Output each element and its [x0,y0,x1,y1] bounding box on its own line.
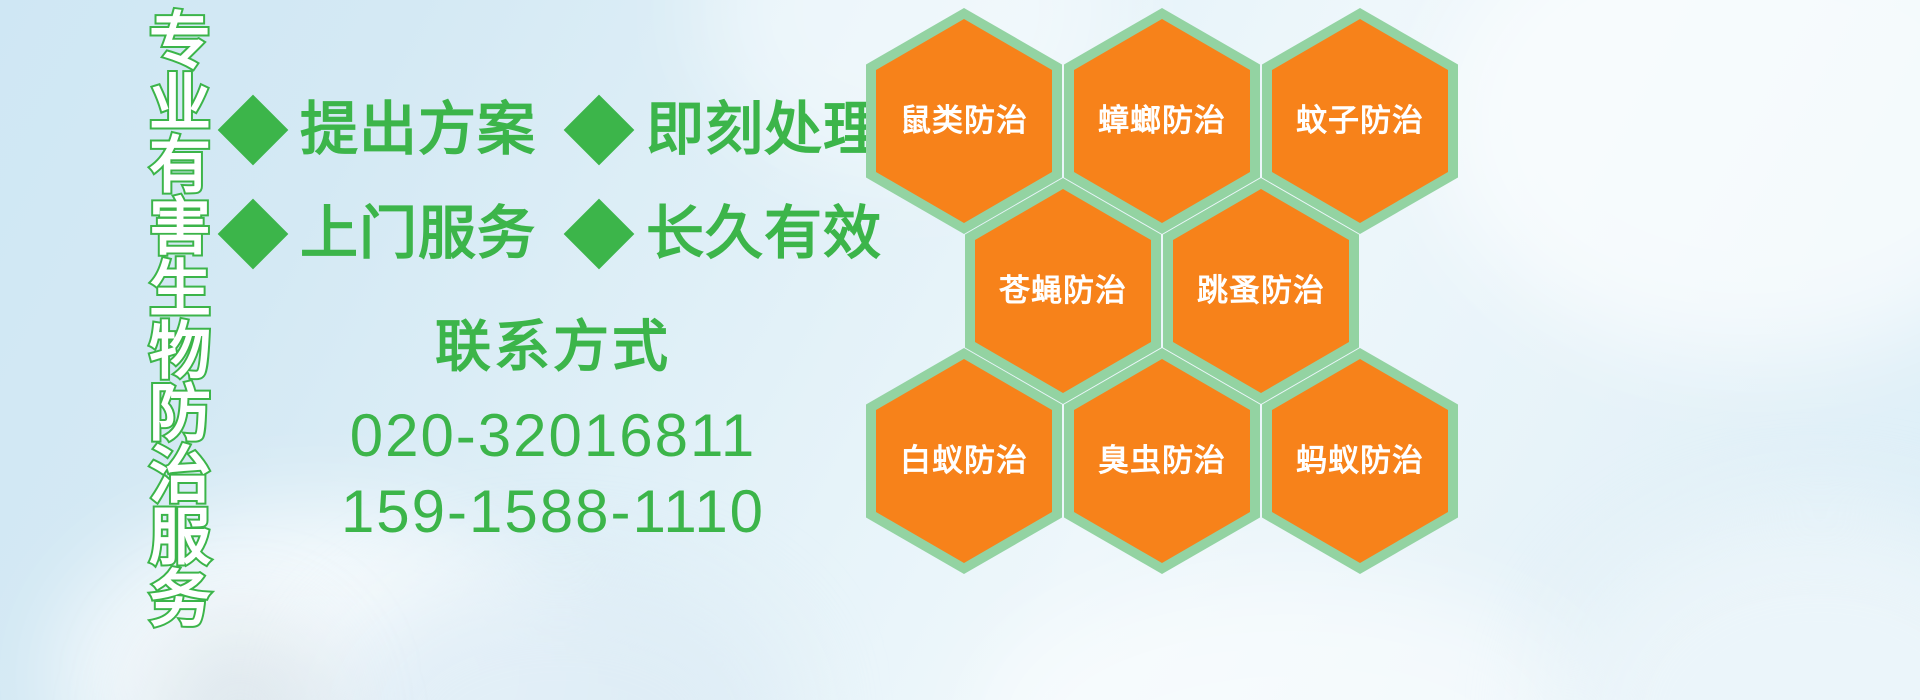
background-haze [1430,0,1920,360]
feature-item: 提出方案 [228,101,536,159]
diamond-icon [564,199,635,270]
phone-landline[interactable]: 020-32016811 [236,398,870,474]
feature-list: 提出方案 即刻处理 上门服务 长久有效 [228,78,868,286]
background-haze [1560,510,1920,700]
hex-label: 苍蝇防治 [999,274,1127,308]
feature-label: 提出方案 [300,101,536,159]
hex-label: 鼠类防治 [900,104,1028,138]
hex-inner: 蟑螂防治 [1074,19,1250,223]
hex-label: 臭虫防治 [1098,444,1226,478]
background-haze [330,570,790,700]
hex-inner: 蚂蚁防治 [1272,359,1448,563]
diamond-icon [564,95,635,166]
hex-inner: 鼠类防治 [876,19,1052,223]
hex-inner: 蚊子防治 [1272,19,1448,223]
diamond-icon [218,199,289,270]
vertical-company-title: 专业有害生物防治服务 [108,8,204,628]
hex-inner: 跳蚤防治 [1173,189,1349,393]
hex-inner: 臭虫防治 [1074,359,1250,563]
feature-row: 提出方案 即刻处理 [228,78,868,182]
hex-label: 白蚁防治 [900,444,1028,478]
feature-item: 长久有效 [574,205,882,263]
feature-label: 长久有效 [646,205,882,263]
diamond-icon [218,95,289,166]
background-haze [980,570,1600,700]
feature-label: 即刻处理 [646,101,882,159]
hex-label: 蚊子防治 [1296,104,1424,138]
phone-mobile[interactable]: 159-1588-1110 [236,474,870,550]
hex-label: 蟑螂防治 [1098,104,1226,138]
service-hex-grid: 鼠类防治 蟑螂防治 蚊子防治 苍蝇防治 跳蚤防治 白蚁防治 [862,0,1462,560]
feature-row: 上门服务 长久有效 [228,182,868,286]
feature-item: 即刻处理 [574,101,882,159]
hex-inner: 白蚁防治 [876,359,1052,563]
feature-label: 上门服务 [300,205,536,263]
hex-label: 跳蚤防治 [1197,274,1325,308]
feature-item: 上门服务 [228,205,536,263]
hex-label: 蚂蚁防治 [1296,444,1424,478]
contact-block: 联系方式 020-32016811 159-1588-1110 [236,312,870,550]
pest-control-banner: 专业有害生物防治服务 提出方案 即刻处理 上门服务 长久有效 联系方式 0 [0,0,1920,700]
background-haze [150,620,330,700]
hex-inner: 苍蝇防治 [975,189,1151,393]
contact-heading: 联系方式 [236,312,870,382]
